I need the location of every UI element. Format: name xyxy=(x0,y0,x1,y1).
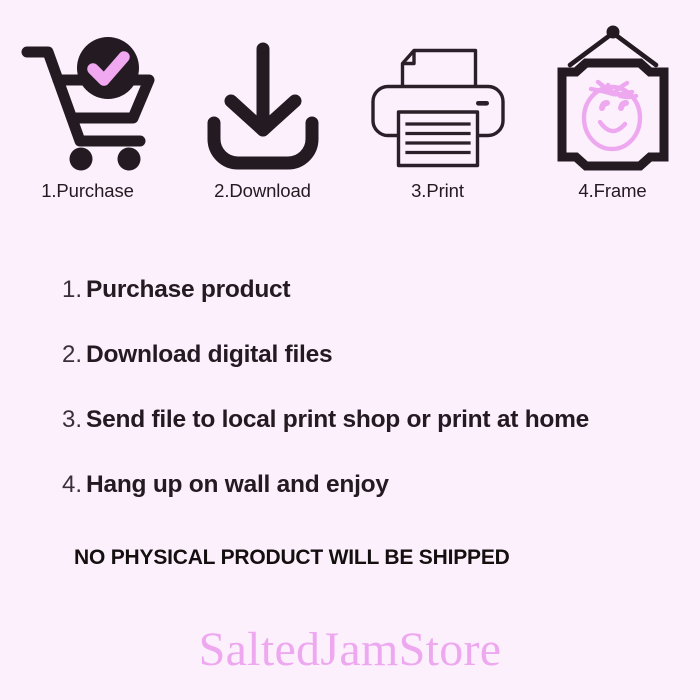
step-purchase: 1.Purchase xyxy=(0,0,175,200)
step-print-caption: 3.Print xyxy=(411,182,464,201)
frame-nail-icon xyxy=(606,25,619,38)
instruction-item: 1. Purchase product xyxy=(62,276,682,341)
instruction-number: 3. xyxy=(62,406,82,434)
printer-slot-indicator xyxy=(476,101,489,106)
step-purchase-caption: 1.Purchase xyxy=(41,182,134,201)
step-download-art xyxy=(188,25,338,173)
hanging-picture-frame-icon xyxy=(550,25,676,173)
steps-strip: 1.Purchase 2.Download xyxy=(0,0,700,200)
instruction-item: 3. Send file to local print shop or prin… xyxy=(62,406,682,471)
store-brand-name: SaltedJamStore xyxy=(0,626,700,674)
disclaimer-text: NO PHYSICAL PRODUCT WILL BE SHIPPED xyxy=(74,546,510,570)
instruction-number: 4. xyxy=(62,471,82,499)
smiley-drawing xyxy=(584,82,640,149)
step-purchase-art xyxy=(13,25,163,173)
instructions-list: 1. Purchase product 2. Download digital … xyxy=(62,276,682,536)
step-frame-art xyxy=(538,25,688,173)
instruction-text: Purchase product xyxy=(86,276,290,304)
instruction-text: Send file to local print shop or print a… xyxy=(86,406,589,434)
step-download: 2.Download xyxy=(175,0,350,200)
printer-icon xyxy=(368,39,508,173)
step-print: 3.Print xyxy=(350,0,525,200)
instruction-number: 1. xyxy=(62,276,82,304)
instruction-item: 4. Hang up on wall and enjoy xyxy=(62,471,682,536)
step-frame-caption: 4.Frame xyxy=(578,182,646,201)
instruction-item: 2. Download digital files xyxy=(62,341,682,406)
download-arrow-tray-icon xyxy=(202,33,324,173)
instruction-number: 2. xyxy=(62,341,82,369)
step-download-caption: 2.Download xyxy=(214,182,311,201)
instruction-text: Download digital files xyxy=(86,341,332,369)
step-frame: 4.Frame xyxy=(525,0,700,200)
step-print-art xyxy=(363,25,513,173)
shopping-cart-check-icon xyxy=(18,33,158,173)
instruction-text: Hang up on wall and enjoy xyxy=(86,471,389,499)
